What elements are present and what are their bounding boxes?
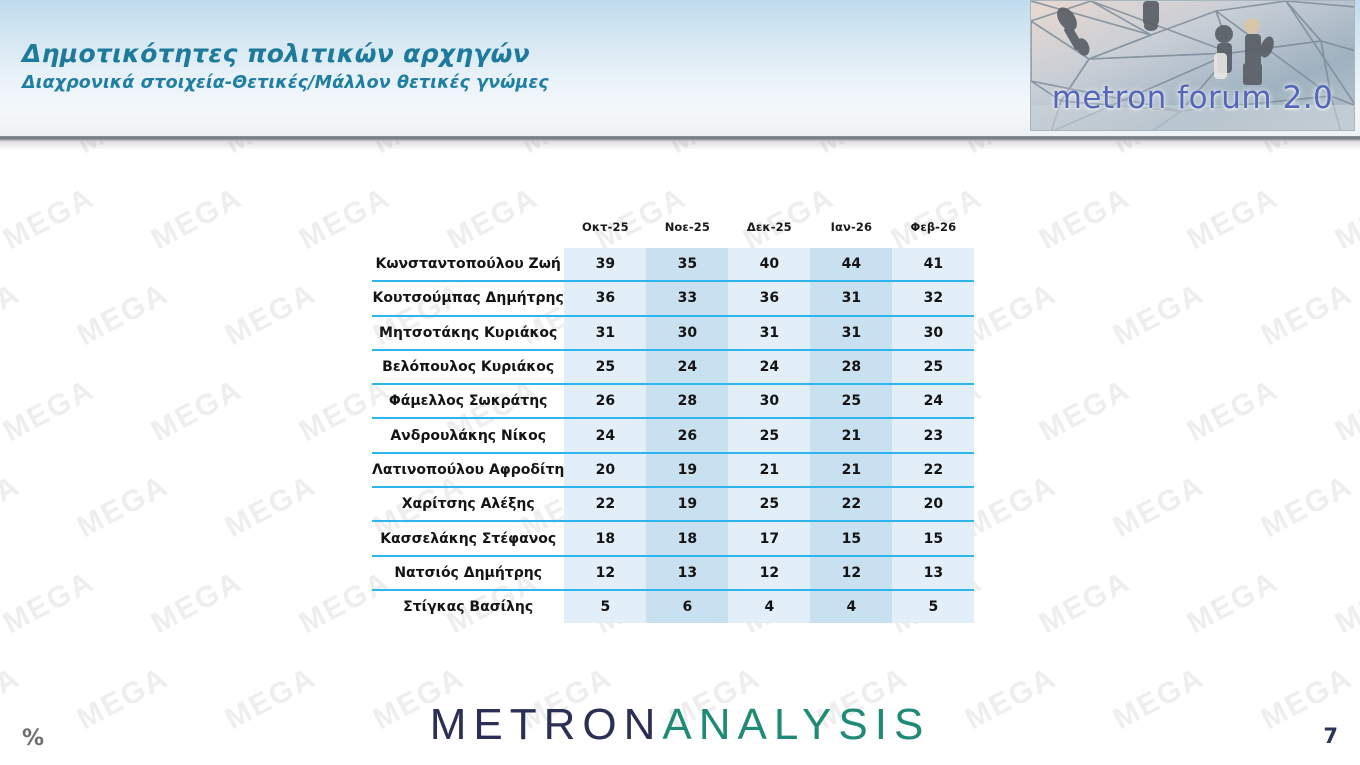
- cell-value: 12: [728, 556, 810, 590]
- table-row: Στίγκας Βασίλης56445: [372, 590, 974, 623]
- row-label: Λατινοπούλου Αφροδίτη: [372, 453, 564, 487]
- cell-value: 26: [564, 384, 646, 418]
- cell-value: 18: [646, 521, 728, 555]
- cell-value: 21: [810, 418, 892, 452]
- cell-value: 6: [646, 590, 728, 623]
- table-body: Κωνσταντοπούλου Ζωή3935404441Κουτσούμπας…: [372, 248, 974, 623]
- row-label: Κουτσούμπας Δημήτρης: [372, 281, 564, 315]
- cell-value: 25: [728, 418, 810, 452]
- cell-value: 4: [810, 590, 892, 623]
- row-label: Κασσελάκης Στέφανος: [372, 521, 564, 555]
- watermark-text: MEGA: [1182, 565, 1284, 641]
- cell-value: 26: [646, 418, 728, 452]
- watermark-text: MEGA: [0, 757, 100, 765]
- cell-value: 21: [728, 453, 810, 487]
- cell-value: 5: [564, 590, 646, 623]
- watermark-text: MEGA: [442, 757, 544, 765]
- cell-value: 13: [892, 556, 974, 590]
- watermark-text: MEGA: [146, 181, 248, 257]
- row-label: Στίγκας Βασίλης: [372, 590, 564, 623]
- watermark-text: MEGA: [1182, 757, 1284, 765]
- cell-value: 31: [564, 316, 646, 350]
- cell-value: 12: [564, 556, 646, 590]
- cell-value: 41: [892, 248, 974, 281]
- cell-value: 22: [892, 453, 974, 487]
- cell-value: 25: [728, 487, 810, 521]
- header-divider-shadow: [0, 141, 1360, 150]
- cell-value: 12: [810, 556, 892, 590]
- cell-value: 40: [728, 248, 810, 281]
- metron-forum-logo: metron forum 2.0: [1030, 0, 1355, 131]
- column-header-4: Ιαν-26: [810, 206, 892, 248]
- column-header-1: Οκτ-25: [564, 206, 646, 248]
- cell-value: 15: [810, 521, 892, 555]
- row-label: Βελόπουλος Κυριάκος: [372, 350, 564, 384]
- metron-analysis-logo: METRONANALYSIS: [0, 700, 1360, 750]
- watermark-text: MEGA: [146, 373, 248, 449]
- cell-value: 28: [646, 384, 728, 418]
- watermark-text: MEGA: [1256, 277, 1358, 353]
- cell-value: 33: [646, 281, 728, 315]
- table-header: Οκτ-25Νοε-25Δεκ-25Ιαν-26Φεβ-26: [372, 206, 974, 248]
- cell-value: 31: [728, 316, 810, 350]
- cell-value: 18: [564, 521, 646, 555]
- cell-value: 19: [646, 487, 728, 521]
- watermark-text: MEGA: [1182, 373, 1284, 449]
- page-title: Δημοτικότητες πολιτικών αρχηγών: [22, 40, 549, 68]
- watermark-text: MEGA: [294, 757, 396, 765]
- watermark-text: MEGA: [0, 373, 100, 449]
- table-row: Ανδρουλάκης Νίκος2426252123: [372, 418, 974, 452]
- watermark-text: MEGA: [1182, 181, 1284, 257]
- watermark-text: MEGA: [960, 469, 1062, 545]
- popularity-table: Οκτ-25Νοε-25Δεκ-25Ιαν-26Φεβ-26 Κωνσταντο…: [372, 206, 974, 623]
- watermark-text: MEGA: [1034, 565, 1136, 641]
- cell-value: 36: [564, 281, 646, 315]
- table-row: Λατινοπούλου Αφροδίτη2019212122: [372, 453, 974, 487]
- cell-value: 19: [646, 453, 728, 487]
- cell-value: 30: [892, 316, 974, 350]
- cell-value: 15: [892, 521, 974, 555]
- cell-value: 32: [892, 281, 974, 315]
- watermark-text: MEGA: [1330, 181, 1360, 257]
- cell-value: 25: [564, 350, 646, 384]
- cell-value: 24: [892, 384, 974, 418]
- watermark-text: MEGA: [590, 757, 692, 765]
- row-label: Ανδρουλάκης Νίκος: [372, 418, 564, 452]
- watermark-text: MEGA: [1330, 373, 1360, 449]
- cell-value: 31: [810, 281, 892, 315]
- table-header-row: Οκτ-25Νοε-25Δεκ-25Ιαν-26Φεβ-26: [372, 206, 974, 248]
- cell-value: 23: [892, 418, 974, 452]
- brand-metron-text: METRON: [430, 700, 663, 749]
- cell-value: 22: [564, 487, 646, 521]
- cell-value: 5: [892, 590, 974, 623]
- table-row: Μητσοτάκης Κυριάκος3130313130: [372, 316, 974, 350]
- cell-value: 24: [728, 350, 810, 384]
- watermark-text: MEGA: [1108, 277, 1210, 353]
- table-row: Φάμελλος Σωκράτης2628302524: [372, 384, 974, 418]
- cell-value: 24: [564, 418, 646, 452]
- table-row: Κουτσούμπας Δημήτρης3633363132: [372, 281, 974, 315]
- cell-value: 22: [810, 487, 892, 521]
- page-subtitle: Διαχρονικά στοιχεία-Θετικές/Μάλλον θετικ…: [22, 73, 549, 93]
- column-header-3: Δεκ-25: [728, 206, 810, 248]
- cell-value: 25: [892, 350, 974, 384]
- cell-value: 30: [646, 316, 728, 350]
- cell-value: 25: [810, 384, 892, 418]
- watermark-text: MEGA: [1330, 757, 1360, 765]
- watermark-text: MEGA: [72, 277, 174, 353]
- title-block: Δημοτικότητες πολιτικών αρχηγών Διαχρονι…: [22, 40, 549, 93]
- watermark-text: MEGA: [1108, 469, 1210, 545]
- cell-value: 28: [810, 350, 892, 384]
- watermark-text: MEGA: [1034, 757, 1136, 765]
- cell-value: 13: [646, 556, 728, 590]
- row-label: Χαρίτσης Αλέξης: [372, 487, 564, 521]
- table-row: Χαρίτσης Αλέξης2219252220: [372, 487, 974, 521]
- cell-value: 39: [564, 248, 646, 281]
- row-label: Κωνσταντοπούλου Ζωή: [372, 248, 564, 281]
- watermark-text: MEGA: [0, 277, 26, 353]
- table-row: Κωνσταντοπούλου Ζωή3935404441: [372, 248, 974, 281]
- watermark-text: MEGA: [146, 757, 248, 765]
- watermark-text: MEGA: [960, 277, 1062, 353]
- watermark-text: MEGA: [886, 757, 988, 765]
- watermark-text: MEGA: [220, 469, 322, 545]
- data-table-container: Οκτ-25Νοε-25Δεκ-25Ιαν-26Φεβ-26 Κωνσταντο…: [372, 206, 974, 623]
- cell-value: 35: [646, 248, 728, 281]
- cell-value: 17: [728, 521, 810, 555]
- forum-logo-text: metron forum 2.0: [1031, 80, 1354, 116]
- row-label: Μητσοτάκης Κυριάκος: [372, 316, 564, 350]
- watermark-text: MEGA: [1034, 373, 1136, 449]
- column-header-5: Φεβ-26: [892, 206, 974, 248]
- table-row: Βελόπουλος Κυριάκος2524242825: [372, 350, 974, 384]
- brand-analysis-text: ANALYSIS: [662, 700, 930, 749]
- column-header-name: [372, 206, 564, 248]
- watermark-text: MEGA: [738, 757, 840, 765]
- row-label: Φάμελλος Σωκράτης: [372, 384, 564, 418]
- watermark-text: MEGA: [0, 469, 26, 545]
- cell-value: 24: [646, 350, 728, 384]
- table-row: Νατσιός Δημήτρης1213121213: [372, 556, 974, 590]
- column-header-2: Νοε-25: [646, 206, 728, 248]
- cell-value: 30: [728, 384, 810, 418]
- watermark-text: MEGA: [146, 565, 248, 641]
- watermark-text: MEGA: [1256, 469, 1358, 545]
- cell-value: 21: [810, 453, 892, 487]
- watermark-text: MEGA: [0, 181, 100, 257]
- watermark-text: MEGA: [1330, 565, 1360, 641]
- cell-value: 4: [728, 590, 810, 623]
- table-row: Κασσελάκης Στέφανος1818171515: [372, 521, 974, 555]
- cell-value: 20: [892, 487, 974, 521]
- cell-value: 44: [810, 248, 892, 281]
- watermark-text: MEGA: [72, 469, 174, 545]
- cell-value: 36: [728, 281, 810, 315]
- watermark-text: MEGA: [0, 565, 100, 641]
- cell-value: 20: [564, 453, 646, 487]
- watermark-text: MEGA: [220, 277, 322, 353]
- row-label: Νατσιός Δημήτρης: [372, 556, 564, 590]
- cell-value: 31: [810, 316, 892, 350]
- watermark-text: MEGA: [1034, 181, 1136, 257]
